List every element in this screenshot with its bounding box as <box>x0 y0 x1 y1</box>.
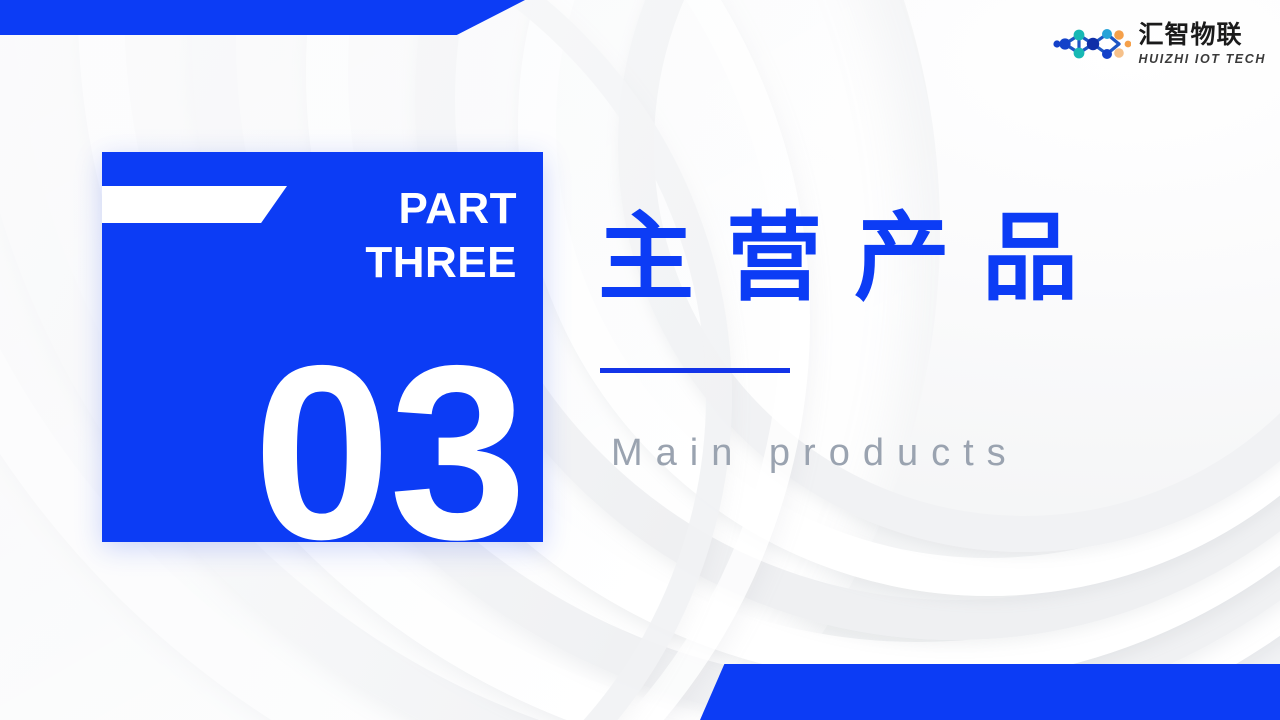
bottom-right-blue-band <box>700 664 1280 720</box>
page-title-cn: 主营产品 <box>598 206 1110 312</box>
top-left-blue-band <box>0 0 525 35</box>
brand-logo-text: 汇智物联 HUIZHI IOT TECH <box>1139 23 1266 66</box>
card-dash-accent <box>102 186 287 223</box>
part-number: 03 <box>253 328 525 576</box>
molecule-network-icon <box>1049 22 1131 66</box>
slide-root: PART THREE 03 主营产品 Main products <box>0 0 1280 720</box>
brand-name-cn: 汇智物联 <box>1139 23 1266 48</box>
section-card: PART THREE 03 <box>102 152 543 542</box>
part-label: PART THREE <box>287 182 517 289</box>
page-subtitle-en: Main products <box>611 432 1019 475</box>
title-divider-rule <box>600 368 790 373</box>
brand-logo: 汇智物联 HUIZHI IOT TECH <box>1049 22 1266 66</box>
brand-name-en: HUIZHI IOT TECH <box>1139 53 1266 66</box>
